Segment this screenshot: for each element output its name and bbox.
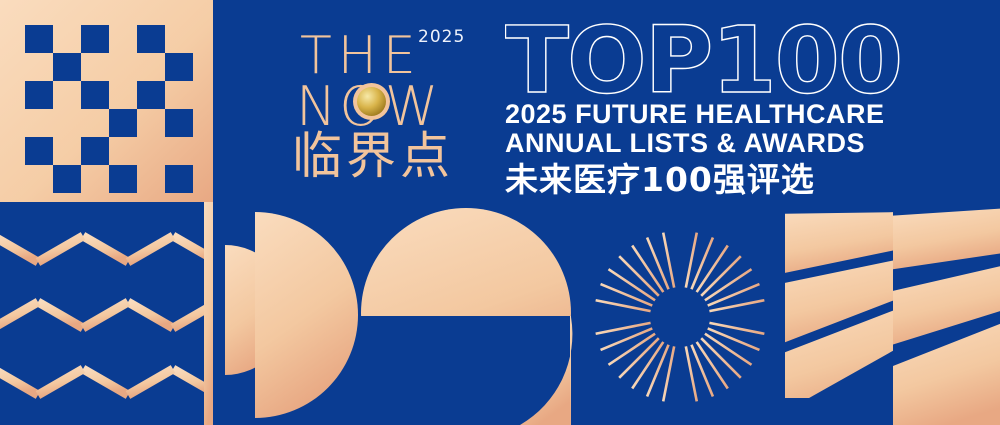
cube-lattice-pattern	[0, 196, 263, 425]
award-banner: THE 2025 NOW 临界点 TOP100 2025 FUTURE HEAL…	[0, 0, 1000, 425]
half-circle-shapes	[225, 212, 358, 418]
diagonal-stripes-pattern	[770, 208, 1000, 425]
logo-chinese-text: 临界点	[292, 128, 454, 184]
headline-block: TOP100 2025 FUTURE HEALTHCARE ANNUAL LIS…	[505, 22, 975, 200]
gold-orb-core	[357, 87, 386, 116]
subtitle-en-line2: ANNUAL LISTS & AWARDS	[505, 129, 975, 158]
top100-outline-title: TOP100	[505, 22, 975, 100]
gold-orb-icon	[353, 83, 390, 120]
checkerboard-pattern	[0, 0, 213, 202]
logo-year-2025: 2025	[418, 27, 465, 47]
subtitle-en-line1: 2025 FUTURE HEALTHCARE	[505, 100, 975, 129]
sunburst-pattern	[594, 231, 766, 403]
top100-outline-svg: TOP100	[505, 22, 975, 104]
svg-text:TOP100: TOP100	[505, 22, 901, 104]
subtitle-cn: 未来医疗100强评选	[505, 160, 975, 200]
